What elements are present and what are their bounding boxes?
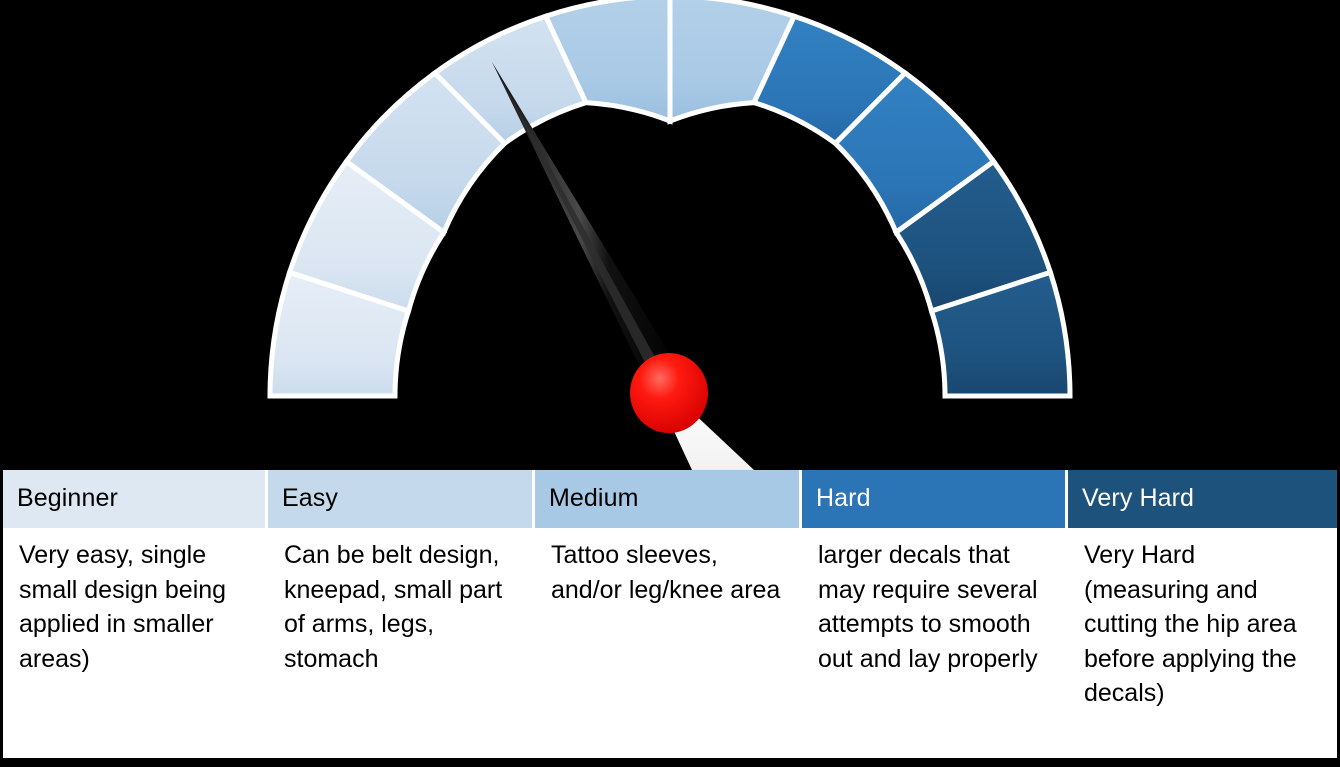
- table-header-medium: Medium: [535, 470, 802, 528]
- table-header-very-hard-label: Very Hard: [1082, 485, 1194, 513]
- gauge-segment-group: [270, 0, 1070, 396]
- table-header-hard: Hard: [802, 470, 1068, 528]
- table-header-beginner-label: Beginner: [17, 485, 118, 513]
- table-cell-hard: larger decals that may require several a…: [802, 528, 1068, 758]
- table-cell-beginner: Very easy, single small design being app…: [3, 528, 268, 758]
- gauge-area: [0, 0, 1340, 470]
- table-cell-medium: Tattoo sleeves, and/or leg/knee area: [535, 528, 802, 758]
- table-header-beginner: Beginner: [3, 470, 268, 528]
- table-header-medium-label: Medium: [549, 485, 639, 513]
- gauge-hub: [630, 353, 708, 433]
- table-header-row: Beginner Easy Medium Hard Very Hard: [3, 470, 1337, 528]
- table-cell-very-hard: Very Hard (measuring and cutting the hip…: [1068, 528, 1337, 758]
- difficulty-table: Beginner Easy Medium Hard Very Hard Very…: [3, 470, 1337, 758]
- slide-canvas: Beginner Easy Medium Hard Very Hard Very…: [0, 0, 1340, 767]
- table-body-row: Very easy, single small design being app…: [3, 528, 1337, 758]
- table-header-easy-label: Easy: [282, 485, 338, 513]
- difficulty-gauge: [0, 0, 1340, 470]
- table-header-hard-label: Hard: [816, 485, 871, 513]
- slide-bottom-border: [0, 758, 1340, 767]
- table-header-easy: Easy: [268, 470, 535, 528]
- table-cell-easy: Can be belt design, kneepad, small part …: [268, 528, 535, 758]
- table-header-very-hard: Very Hard: [1068, 470, 1337, 528]
